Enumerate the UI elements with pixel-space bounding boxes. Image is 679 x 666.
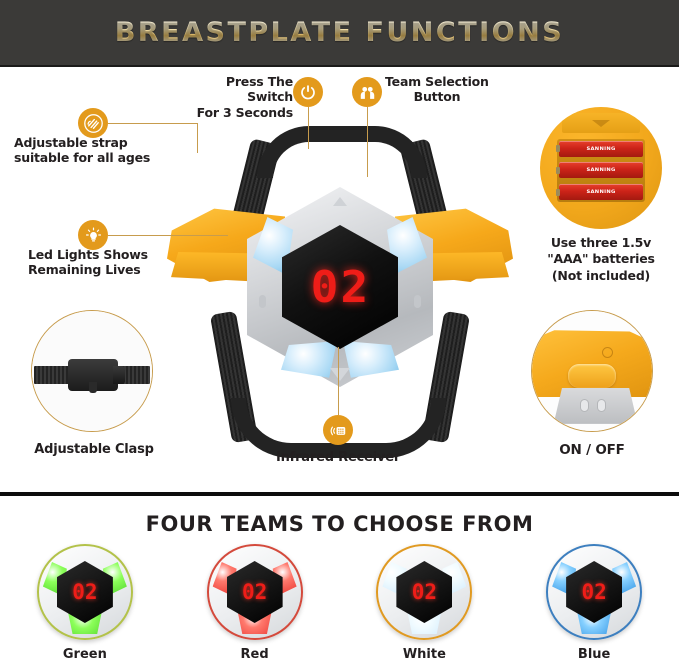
- header-bar: BREASTPLATE FUNCTIONS: [0, 0, 679, 67]
- callout-strap-label: Adjustable strap suitable for all ages: [14, 135, 164, 166]
- battery-arrow-marker: [592, 120, 610, 127]
- callout-strap-line2: suitable for all ages: [14, 150, 164, 165]
- infrared-icon: [323, 415, 353, 445]
- battery-brand: SANNING: [586, 189, 615, 194]
- team-item-white[interactable]: 02 White: [359, 544, 489, 662]
- callout-led-line2: Remaining Lives: [28, 262, 188, 277]
- callout-team-line1: Team Selection: [385, 74, 515, 89]
- callout-led-line1: Led Lights Shows: [28, 247, 188, 262]
- callout-battery-line3: (Not included): [531, 268, 671, 284]
- callout-battery-label: Use three 1.5v "AAA" batteries (Not incl…: [531, 235, 671, 284]
- connector-infrared-v: [338, 347, 339, 415]
- onoff-inset: [531, 310, 653, 432]
- team-item-red[interactable]: 02 Red: [190, 544, 320, 662]
- callout-strap-line1: Adjustable strap: [14, 135, 164, 150]
- team-label-white: White: [403, 647, 446, 662]
- team-ball-red: 02: [207, 544, 303, 640]
- power-icon: [293, 77, 323, 107]
- team-display-value: 02: [72, 580, 97, 604]
- callout-infrared-line1: Infrared Receiver: [263, 450, 413, 466]
- battery-cell: SANNING: [559, 162, 643, 178]
- connector-switch-v: [308, 107, 309, 149]
- team-ball-blue: 02: [546, 544, 642, 640]
- diagram-stage: 02 Adjustable strap suitable for all age…: [0, 67, 679, 492]
- breastplate-device: 02: [175, 122, 505, 452]
- callout-onoff-label: ON / OFF: [531, 442, 653, 458]
- connector-led-h: [108, 235, 228, 236]
- team-item-blue[interactable]: 02 Blue: [529, 544, 659, 662]
- onoff-switch-slider[interactable]: [568, 364, 616, 388]
- led-panel-bottom-left: [281, 341, 337, 381]
- callout-onoff-line1: ON / OFF: [531, 442, 653, 458]
- connector-strap-v: [197, 123, 198, 153]
- callout-switch-line2: For 3 Seconds: [178, 105, 293, 120]
- side-button-left[interactable]: [259, 295, 266, 308]
- vent-triangle-top: [333, 197, 347, 206]
- side-button-right[interactable]: [414, 295, 421, 308]
- battery-brand: SANNING: [586, 146, 615, 151]
- callout-switch-label: Press The Switch For 3 Seconds: [178, 74, 293, 120]
- team-label-blue: Blue: [578, 647, 610, 662]
- onoff-indicator-left: [580, 399, 589, 412]
- lightbulb-icon: [78, 220, 108, 250]
- display-value: 02: [310, 262, 370, 313]
- onoff-indicator-right: [597, 399, 606, 412]
- callout-switch-line1: Press The Switch: [178, 74, 293, 105]
- clasp-inset: [31, 310, 153, 432]
- battery-cell: SANNING: [559, 141, 643, 157]
- onoff-background: [532, 311, 652, 431]
- clasp-background: [32, 311, 152, 431]
- vent-triangle-bottom: [330, 368, 350, 381]
- page-title: BREASTPLATE FUNCTIONS: [115, 17, 564, 48]
- team-list: 02 Green 02 Red 02: [0, 544, 679, 662]
- team-ball-green: 02: [37, 544, 133, 640]
- team-label-green: Green: [63, 647, 107, 662]
- callout-team-line2: Button: [385, 89, 489, 104]
- onoff-screw-mark: [602, 347, 613, 358]
- callout-battery-line2: "AAA" batteries: [531, 251, 671, 267]
- clasp-buckle-nub: [89, 382, 97, 393]
- callout-team-label: Team Selection Button: [385, 74, 515, 105]
- team-label-red: Red: [241, 647, 269, 662]
- battery-inset: SANNING SANNING SANNING: [540, 107, 662, 229]
- battery-case: SANNING SANNING SANNING: [540, 107, 662, 229]
- onoff-gray-panel: [554, 388, 638, 424]
- teams-section: FOUR TEAMS TO CHOOSE FROM 02 Green 02: [0, 496, 679, 666]
- callout-clasp-label: Adjustable Clasp: [24, 442, 164, 458]
- strap-icon: [78, 108, 108, 138]
- callout-led-label: Led Lights Shows Remaining Lives: [28, 247, 188, 278]
- strap-arc-top: [257, 126, 427, 178]
- team-item-green[interactable]: 02 Green: [20, 544, 150, 662]
- callout-infrared-label: Infrared Receiver: [263, 450, 413, 466]
- led-panel-bottom-right: [343, 341, 399, 381]
- callout-clasp-line1: Adjustable Clasp: [24, 442, 164, 458]
- teams-title: FOUR TEAMS TO CHOOSE FROM: [0, 512, 679, 536]
- connector-strap-h: [108, 123, 198, 124]
- hex-module: 02: [247, 187, 433, 387]
- team-ball-white: 02: [376, 544, 472, 640]
- clasp-buckle: [68, 359, 118, 391]
- connector-team-v: [367, 107, 368, 177]
- battery-cell: SANNING: [559, 184, 643, 200]
- battery-brand: SANNING: [586, 168, 615, 173]
- team-display-value: 02: [412, 580, 437, 604]
- team-display-value: 02: [581, 580, 606, 604]
- battery-slot: SANNING SANNING SANNING: [557, 139, 645, 202]
- callout-battery-line1: Use three 1.5v: [531, 235, 671, 251]
- team-icon: [352, 77, 382, 107]
- team-display-value: 02: [242, 580, 267, 604]
